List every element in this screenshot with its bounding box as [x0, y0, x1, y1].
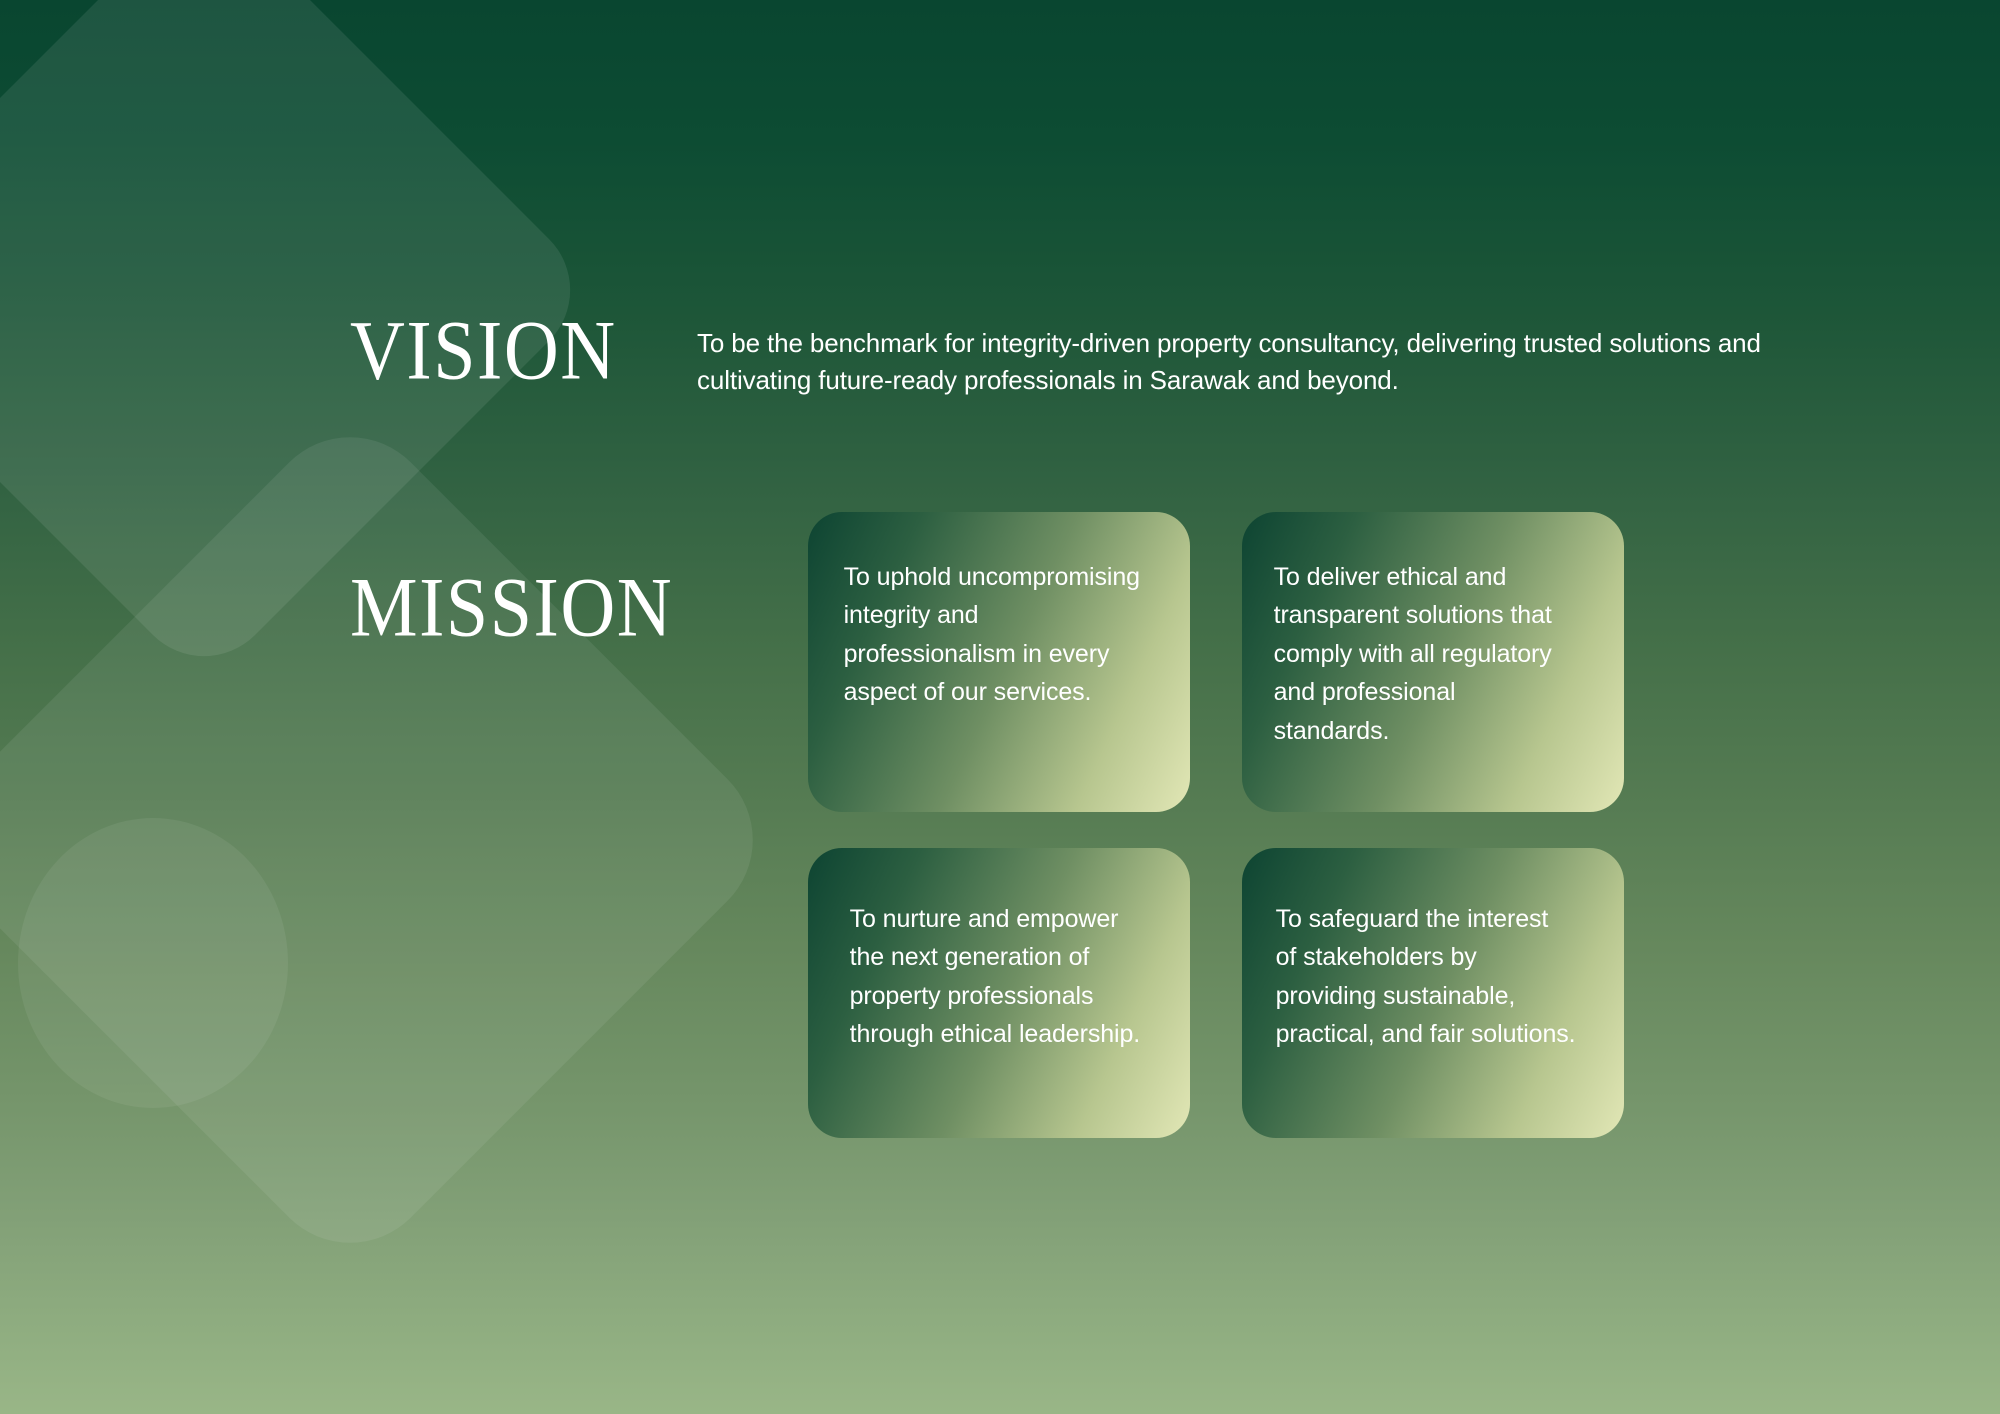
- mission-cards-grid: To uphold uncompromising integrity and p…: [808, 512, 1624, 1138]
- mission-card: To uphold uncompromising integrity and p…: [808, 512, 1190, 812]
- mission-heading: MISSION: [350, 565, 673, 650]
- mission-card-text: To deliver ethical and transparent solut…: [1274, 558, 1574, 751]
- mission-card-inner: To nurture and empower the next generati…: [810, 850, 1189, 1137]
- mission-card-inner: To deliver ethical and transparent solut…: [1244, 514, 1623, 811]
- mission-card-text: To safeguard the interest of stakeholder…: [1276, 900, 1576, 1054]
- slide-content: VISION To be the benchmark for integrity…: [0, 0, 2000, 1414]
- vision-heading: VISION: [350, 308, 617, 393]
- mission-card: To safeguard the interest of stakeholder…: [1242, 848, 1624, 1138]
- mission-card-inner: To safeguard the interest of stakeholder…: [1244, 850, 1623, 1137]
- mission-card-text: To nurture and empower the next generati…: [850, 900, 1155, 1054]
- mission-card: To deliver ethical and transparent solut…: [1242, 512, 1624, 812]
- mission-card-text: To uphold uncompromising integrity and p…: [844, 558, 1144, 712]
- vision-mission-slide: VISION To be the benchmark for integrity…: [0, 0, 2000, 1414]
- vision-body-text: To be the benchmark for integrity-driven…: [697, 325, 1827, 399]
- mission-card-inner: To uphold uncompromising integrity and p…: [810, 514, 1189, 811]
- mission-card: To nurture and empower the next generati…: [808, 848, 1190, 1138]
